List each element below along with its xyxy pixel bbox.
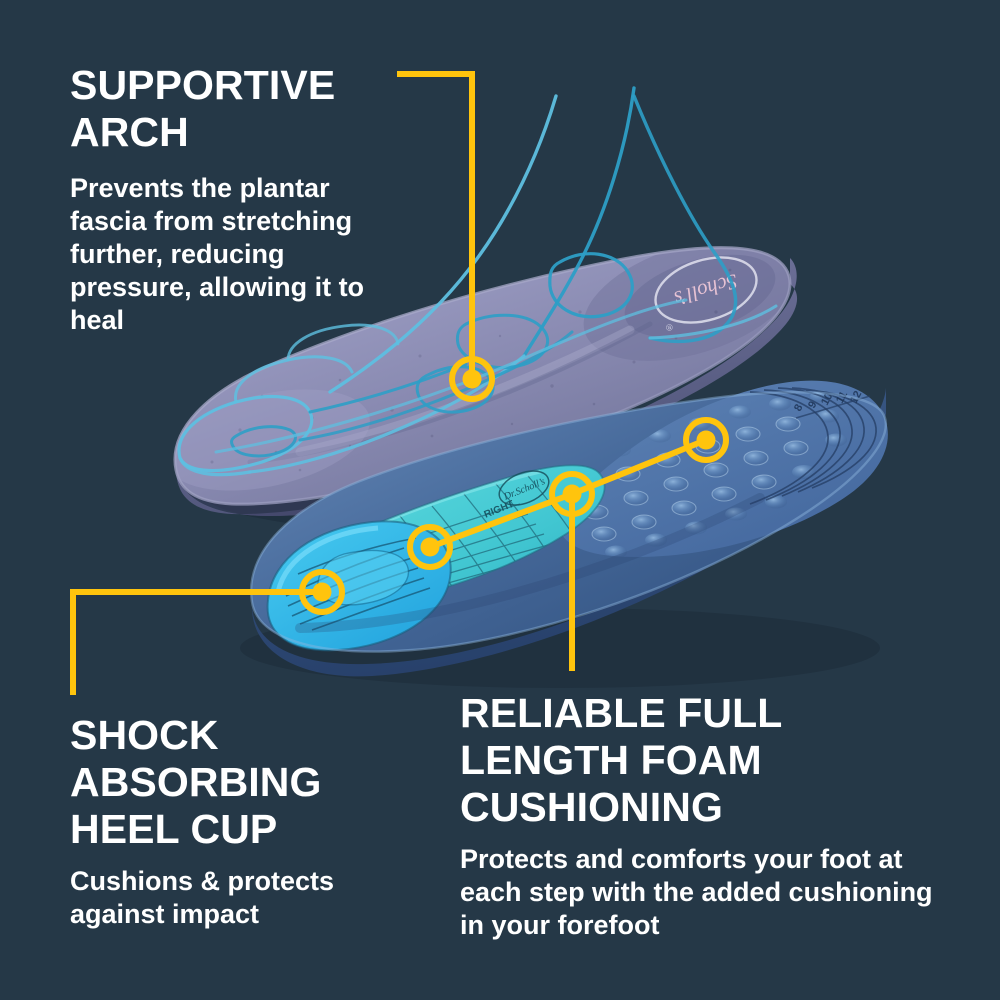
marker-foam-heelpad — [410, 527, 450, 567]
callout-reliable-full-length-foam-cushioning: RELIABLE FULLLENGTH FOAMCUSHIONING Prote… — [460, 690, 940, 942]
callout-title-shock-absorbing-heel-cup: SHOCKABSORBINGHEEL CUP — [70, 712, 400, 853]
callout-shock-absorbing-heel-cup: SHOCKABSORBINGHEEL CUP Cushions & protec… — [70, 712, 400, 931]
leader-line-heel — [73, 592, 322, 692]
callout-supportive-arch: SUPPORTIVEARCH Prevents the plantar fasc… — [70, 62, 410, 337]
callout-body-supportive-arch: Prevents the plantar fascia from stretch… — [70, 172, 410, 337]
callout-body-reliable-full-length-foam-cushioning: Protects and comforts your foot at each … — [460, 843, 940, 942]
marker-foam-forefoot — [686, 420, 726, 460]
marker-group — [302, 359, 726, 612]
callout-title-supportive-arch: SUPPORTIVEARCH — [70, 62, 410, 156]
leader-line-arch — [400, 74, 472, 379]
infographic-canvas: Scholl’s ® — [0, 0, 1000, 1000]
callout-body-shock-absorbing-heel-cup: Cushions & protects against impact — [70, 865, 400, 931]
callout-title-reliable-full-length-foam-cushioning: RELIABLE FULLLENGTH FOAMCUSHIONING — [460, 690, 940, 831]
